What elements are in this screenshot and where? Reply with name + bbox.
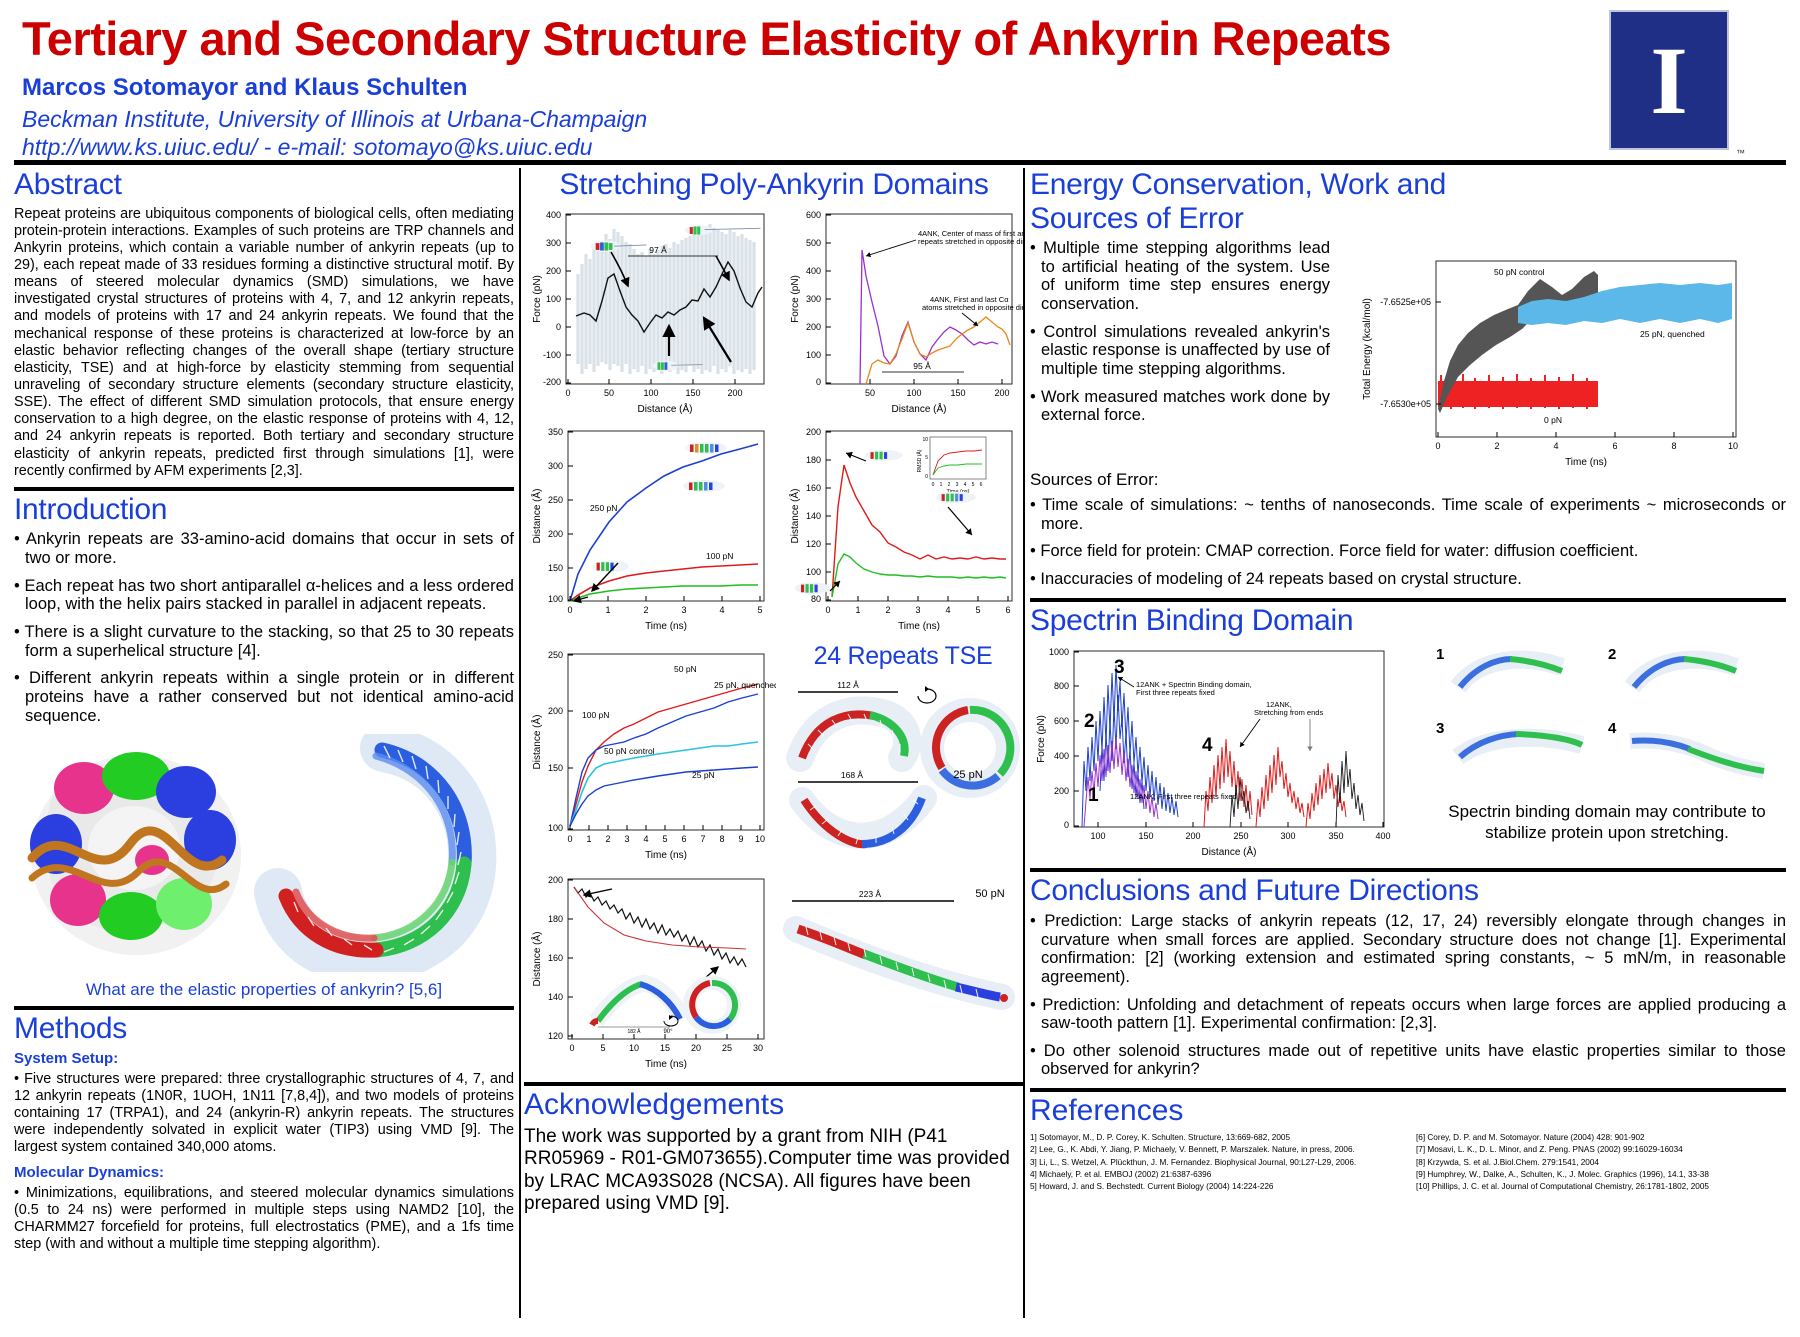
tse-label-223: 223 Å <box>859 889 882 899</box>
section-divider <box>14 487 514 491</box>
svg-text:3: 3 <box>624 834 629 844</box>
reference-item: 5] Howard, J. and S. Bechstedt. Current … <box>1030 1181 1400 1193</box>
acknowledgements-text: The work was supported by a grant from N… <box>524 1126 1024 1216</box>
svg-text:15: 15 <box>660 1043 670 1053</box>
svg-text:7: 7 <box>700 834 705 844</box>
svg-text:50 pN: 50 pN <box>674 664 697 674</box>
svg-text:300: 300 <box>548 461 563 471</box>
spectrin-structure-panels: 1 2 3 4 <box>1428 641 1786 862</box>
svg-text:9: 9 <box>738 834 743 844</box>
list-item: • There is a slight curvature to the sta… <box>14 623 514 660</box>
header-divider <box>14 160 1786 165</box>
svg-text:0: 0 <box>1435 441 1440 451</box>
svg-text:400: 400 <box>806 266 821 276</box>
axis-label-y: Force (pN) <box>532 275 543 323</box>
reference-item: [7] Mosavi, L. K., D. L. Minor, and Z. P… <box>1416 1144 1786 1156</box>
spectrin-caption: Spectrin binding domain may contribute t… <box>1428 802 1786 843</box>
tse-panel: 24 Repeats TSE 112 Å <box>782 642 1024 869</box>
tse-label-168: 168 Å <box>841 770 864 780</box>
references-heading: References <box>1030 1094 1786 1128</box>
svg-text:8: 8 <box>1671 441 1676 451</box>
methods-subhead-md: Molecular Dynamics: <box>14 1164 514 1181</box>
svg-text:4: 4 <box>719 605 724 615</box>
svg-text:150: 150 <box>950 388 965 398</box>
svg-text:200: 200 <box>727 388 742 398</box>
energy-bullets: • Multiple time stepping algorithms lead… <box>1030 239 1330 425</box>
svg-text:2: 2 <box>1494 441 1499 451</box>
svg-text:100: 100 <box>1090 831 1105 841</box>
svg-text:100: 100 <box>548 823 563 833</box>
axis-label-y: Force (pN) <box>790 275 801 323</box>
svg-text:5: 5 <box>975 605 980 615</box>
tse-223-panel: 223 Å 50 pN <box>782 871 1024 1076</box>
authors-line: Marcos Sotomayor and Klaus Schulten <box>22 74 467 102</box>
panel-label-3: 3 <box>1436 720 1444 737</box>
svg-text:1: 1 <box>586 834 591 844</box>
svg-text:10: 10 <box>755 834 765 844</box>
list-item: • Work measured matches work done by ext… <box>1030 388 1330 425</box>
svg-text:0 pN: 0 pN <box>1544 415 1562 425</box>
svg-text:140: 140 <box>806 511 821 521</box>
reference-item: [10] Phillips, J. C. et al. Journal of C… <box>1416 1181 1786 1193</box>
svg-text:200: 200 <box>1185 831 1200 841</box>
list-item: • Do other solenoid structures made out … <box>1030 1042 1786 1079</box>
axis-label-x: Time (ns) <box>645 621 687 632</box>
svg-text:100: 100 <box>643 388 658 398</box>
axis-label-x: Distance (Å) <box>891 402 946 415</box>
svg-text:350: 350 <box>548 427 563 437</box>
reference-item: 1] Sotomayor, M., D. P. Corey, K. Schult… <box>1030 1132 1400 1144</box>
svg-text:50 pN control: 50 pN control <box>1494 267 1545 277</box>
spectrin-heading: Spectrin Binding Domain <box>1030 604 1786 638</box>
svg-text:120: 120 <box>806 539 821 549</box>
svg-text:1000: 1000 <box>1049 647 1069 657</box>
svg-text:100 pN: 100 pN <box>706 551 733 561</box>
figure-distance-time-30ns: 182 Å 90° <box>524 871 776 1076</box>
svg-text:repeats stretched in opposite: repeats stretched in opposite directions <box>918 237 1024 246</box>
column-divider-1 <box>519 168 521 1318</box>
logo-letter: I <box>1611 12 1727 148</box>
list-item: • Inaccuracies of modeling of 24 repeats… <box>1030 570 1786 589</box>
section-divider <box>1030 598 1786 602</box>
spectrin-label-3: 3 <box>1114 657 1125 678</box>
svg-text:20: 20 <box>691 1043 701 1053</box>
svg-text:100: 100 <box>906 388 921 398</box>
conclusions-heading: Conclusions and Future Directions <box>1030 874 1786 908</box>
superhelix-ribbon <box>278 746 472 960</box>
svg-text:250 pN: 250 pN <box>590 503 617 513</box>
introduction-bullets: • Ankyrin repeats are 33-amino-acid doma… <box>14 530 514 725</box>
svg-text:4: 4 <box>643 834 648 844</box>
ankyrin-structure-svg <box>14 734 514 972</box>
introduction-figure-caption: What are the elastic properties of ankyr… <box>14 980 514 1000</box>
tse-heading: 24 Repeats TSE <box>782 642 1024 670</box>
svg-text:600: 600 <box>1054 716 1069 726</box>
svg-text:160: 160 <box>806 483 821 493</box>
figure-4ank-force: 4ANK, Center of mass of first and last r… <box>782 206 1024 421</box>
svg-text:120: 120 <box>548 1031 563 1041</box>
svg-text:5: 5 <box>600 1043 605 1053</box>
references-list: 1] Sotomayor, M., D. P. Corey, K. Schult… <box>1030 1132 1786 1193</box>
contact-line: http://www.ks.uiuc.edu/ - e-mail: sotoma… <box>22 134 592 161</box>
column-right: Energy Conservation, Work and Sources of… <box>1030 168 1786 1194</box>
tse-force-25: 25 pN <box>953 769 982 781</box>
svg-text:4: 4 <box>945 605 950 615</box>
figure-distance-time-10ns: 100 pN 50 pN 25 pN, quenched 50 pN contr… <box>524 642 776 869</box>
svg-text:0: 0 <box>932 482 935 488</box>
figure-distance-time-5ns: 250 pN 100 pN <box>524 423 776 640</box>
column-divider-2 <box>1023 168 1025 1318</box>
svg-text:1: 1 <box>855 605 860 615</box>
svg-text:200: 200 <box>806 427 821 437</box>
axis-label-y: Distance (Å) <box>530 488 543 543</box>
svg-text:6: 6 <box>1612 441 1617 451</box>
sources-of-error-bullets: • Time scale of simulations: ~ tenths of… <box>1030 496 1786 589</box>
section-divider <box>1030 868 1786 872</box>
abstract-heading: Abstract <box>14 168 514 202</box>
methods-text-md: • Minimizations, equilibrations, and ste… <box>14 1185 514 1254</box>
axis-label-x: Time (ns) <box>898 621 940 632</box>
svg-text:150: 150 <box>1138 831 1153 841</box>
poster-header: Tertiary and Secondary Structure Elastic… <box>0 0 1800 178</box>
svg-text:100: 100 <box>806 350 821 360</box>
svg-text:300: 300 <box>546 238 561 248</box>
energy-heading: Energy Conservation, Work and Sources of… <box>1030 168 1550 235</box>
svg-text:95 Å: 95 Å <box>913 361 931 371</box>
svg-text:30: 30 <box>753 1043 763 1053</box>
svg-text:2: 2 <box>885 605 890 615</box>
svg-text:182 Å: 182 Å <box>627 1028 641 1035</box>
reference-item: 2] Lee, G., K. Abdi, Y. Jiang, P. Michae… <box>1030 1144 1400 1156</box>
svg-text:0: 0 <box>816 377 821 387</box>
svg-text:12ANK, First three repeats fix: 12ANK, First three repeats fixed <box>1130 792 1237 801</box>
axis-label-x: Distance (Å) <box>637 402 692 415</box>
svg-text:180: 180 <box>806 455 821 465</box>
svg-text:160: 160 <box>548 953 563 963</box>
svg-text:0: 0 <box>569 1043 574 1053</box>
svg-text:400: 400 <box>1375 831 1390 841</box>
axis-label-y: Total Energy (kcal/mol) <box>1362 298 1373 400</box>
list-item: • Different ankyrin repeats within a sin… <box>14 669 514 725</box>
list-item: • Multiple time stepping algorithms lead… <box>1030 239 1330 314</box>
svg-text:First three repeats fixed: First three repeats fixed <box>1136 688 1215 697</box>
svg-text:50: 50 <box>865 388 875 398</box>
svg-text:350: 350 <box>1328 831 1343 841</box>
svg-text:150: 150 <box>685 388 700 398</box>
svg-text:-7.6530e+05: -7.6530e+05 <box>1380 399 1431 409</box>
svg-text:97 Å: 97 Å <box>649 245 667 255</box>
reference-item: 4] Michaely, P. et al. EMBOJ (2002) 21:6… <box>1030 1169 1400 1181</box>
panel-label-1: 1 <box>1436 646 1444 663</box>
svg-text:0: 0 <box>925 474 928 480</box>
list-item: • Prediction: Large stacks of ankyrin re… <box>1030 912 1786 987</box>
axis-label-y: Force (pN) <box>1036 715 1047 763</box>
spectrin-label-4: 4 <box>1202 735 1213 756</box>
svg-text:10: 10 <box>1728 441 1738 451</box>
section-divider <box>1030 1088 1786 1092</box>
svg-text:RMSD (Å): RMSD (Å) <box>916 449 923 472</box>
svg-text:180: 180 <box>548 914 563 924</box>
axis-label-y: Distance (Å) <box>530 714 543 769</box>
svg-text:2: 2 <box>643 605 648 615</box>
affiliation-line: Beckman Institute, University of Illinoi… <box>22 106 647 133</box>
svg-text:200: 200 <box>548 529 563 539</box>
svg-text:4: 4 <box>1553 441 1558 451</box>
svg-text:200: 200 <box>548 875 563 885</box>
reference-item: 3] Li, L., S. Wetzel, A. Plückthun, J. M… <box>1030 1157 1400 1169</box>
svg-text:80: 80 <box>811 594 821 604</box>
column-left: Abstract Repeat proteins are ubiquitous … <box>14 168 514 1260</box>
svg-text:5: 5 <box>925 455 928 461</box>
stretching-heading: Stretching Poly-Ankyrin Domains <box>524 168 1024 202</box>
svg-text:6: 6 <box>681 834 686 844</box>
svg-text:25: 25 <box>722 1043 732 1053</box>
references-column-left: 1] Sotomayor, M., D. P. Corey, K. Schult… <box>1030 1132 1400 1193</box>
svg-text:200: 200 <box>1054 786 1069 796</box>
svg-text:3: 3 <box>915 605 920 615</box>
svg-text:25 pN, quenched: 25 pN, quenched <box>714 680 776 690</box>
svg-text:100: 100 <box>806 567 821 577</box>
references-column-right: [6] Corey, D. P. and M. Sotomayor. Natur… <box>1416 1132 1786 1193</box>
svg-text:6: 6 <box>1005 605 1010 615</box>
svg-text:1: 1 <box>605 605 610 615</box>
svg-text:250: 250 <box>1233 831 1248 841</box>
axis-label-x: Time (ns) <box>1565 457 1607 468</box>
svg-text:2: 2 <box>605 834 610 844</box>
svg-text:-7.6525e+05: -7.6525e+05 <box>1380 297 1431 307</box>
methods-subhead-setup: System Setup: <box>14 1050 514 1067</box>
svg-text:5: 5 <box>972 482 975 488</box>
acknowledgements-heading: Acknowledgements <box>524 1088 1024 1122</box>
svg-text:400: 400 <box>546 210 561 220</box>
svg-text:atoms stretched in opposite di: atoms stretched in opposite directions <box>922 303 1024 312</box>
list-item: • Time scale of simulations: ~ tenths of… <box>1030 496 1786 533</box>
svg-text:300: 300 <box>806 294 821 304</box>
svg-text:200: 200 <box>548 706 563 716</box>
spectrin-label-1: 1 <box>1088 785 1099 806</box>
list-item: • Ankyrin repeats are 33-amino-acid doma… <box>14 530 514 567</box>
section-divider <box>524 1082 1024 1086</box>
svg-text:100: 100 <box>546 294 561 304</box>
svg-text:Stretching from ends: Stretching from ends <box>1254 708 1323 717</box>
svg-text:-200: -200 <box>543 377 561 387</box>
tse-label-112: 112 Å <box>837 680 859 690</box>
svg-text:250: 250 <box>548 650 563 660</box>
list-item: • Each repeat has two short antiparallel… <box>14 577 514 614</box>
svg-text:0: 0 <box>825 605 830 615</box>
svg-text:6: 6 <box>980 482 983 488</box>
tse-force-50: 50 pN <box>975 888 1004 900</box>
svg-text:200: 200 <box>994 388 1009 398</box>
trademark-symbol: ™ <box>1736 148 1745 158</box>
svg-text:5: 5 <box>757 605 762 615</box>
column-middle: Stretching Poly-Ankyrin Domains 97 Å <box>524 168 1024 1216</box>
svg-text:2: 2 <box>948 482 951 488</box>
axis-label-y: Distance (Å) <box>530 931 543 986</box>
svg-text:5: 5 <box>662 834 667 844</box>
svg-text:0: 0 <box>565 388 570 398</box>
svg-text:3: 3 <box>681 605 686 615</box>
svg-text:4: 4 <box>964 482 967 488</box>
svg-text:25 pN: 25 pN <box>692 770 715 780</box>
svg-text:250: 250 <box>548 495 563 505</box>
svg-text:150: 150 <box>548 563 563 573</box>
axis-label-x: Time (ns) <box>645 850 687 861</box>
reference-item: [6] Corey, D. P. and M. Sotomayor. Natur… <box>1416 1132 1786 1144</box>
figure-force-distance: 97 Å <box>524 206 776 421</box>
svg-text:50 pN control: 50 pN control <box>604 746 655 756</box>
abstract-text: Repeat proteins are ubiquitous component… <box>14 206 514 480</box>
figure-spectrin-force: 1 2 3 4 12ANK + Spectrin Binding domain,… <box>1030 641 1420 862</box>
svg-text:3: 3 <box>956 482 959 488</box>
svg-text:100: 100 <box>548 594 563 604</box>
svg-text:400: 400 <box>1054 751 1069 761</box>
svg-text:150: 150 <box>548 763 563 773</box>
svg-text:200: 200 <box>806 322 821 332</box>
conclusions-bullets: • Prediction: Large stacks of ankyrin re… <box>1030 912 1786 1079</box>
figure-ankyrin-structures <box>14 734 514 972</box>
tse-structure-svg: 112 Å <box>782 674 1024 864</box>
surface-representation <box>30 752 241 955</box>
svg-text:0: 0 <box>556 322 561 332</box>
svg-text:1: 1 <box>940 482 943 488</box>
list-item: • Force field for protein: CMAP correcti… <box>1030 542 1786 561</box>
svg-text:140: 140 <box>548 992 563 1002</box>
svg-text:10: 10 <box>922 437 928 443</box>
panel-label-2: 2 <box>1608 646 1616 663</box>
methods-text-setup: • Five structures were prepared: three c… <box>14 1071 514 1157</box>
section-divider <box>14 1006 514 1010</box>
reference-item: [9] Humphrey, W., Dalke, A., Schulten, K… <box>1416 1169 1786 1181</box>
svg-text:8: 8 <box>719 834 724 844</box>
list-item: • Prediction: Unfolding and detachment o… <box>1030 996 1786 1033</box>
axis-label-y: Distance (Å) <box>788 488 801 543</box>
methods-heading: Methods <box>14 1012 514 1046</box>
svg-text:500: 500 <box>806 238 821 248</box>
svg-text:0: 0 <box>1064 820 1069 830</box>
figure-energy-conservation: 50 pN control 25 pN, quenched 0 pN -7.65… <box>1344 239 1786 474</box>
svg-text:600: 600 <box>806 210 821 220</box>
university-logo: I <box>1609 10 1729 150</box>
axis-label-x: Distance (Å) <box>1201 845 1256 857</box>
svg-text:25 pN, quenched: 25 pN, quenched <box>1640 329 1705 339</box>
spectrin-label-2: 2 <box>1084 711 1095 732</box>
svg-text:300: 300 <box>1280 831 1295 841</box>
svg-text:10: 10 <box>629 1043 639 1053</box>
svg-text:50: 50 <box>604 388 614 398</box>
axis-label-x: Time (ns) <box>645 1059 687 1070</box>
figure-distance-time-6ns: 10 5 0 RMSD (Å) 01 23 45 6 Time (ns) <box>782 423 1024 640</box>
list-item: • Control simulations revealed ankyrin's… <box>1030 323 1330 379</box>
reference-item: [8] Krzywda, S. et al. J.Biol.Chem. 279:… <box>1416 1157 1786 1169</box>
svg-text:0: 0 <box>567 834 572 844</box>
svg-text:100 pN: 100 pN <box>582 710 609 720</box>
svg-text:800: 800 <box>1054 681 1069 691</box>
svg-text:0: 0 <box>567 605 572 615</box>
svg-text:200: 200 <box>546 266 561 276</box>
page-title: Tertiary and Secondary Structure Elastic… <box>22 14 1602 63</box>
introduction-heading: Introduction <box>14 493 514 527</box>
svg-text:-100: -100 <box>543 350 561 360</box>
panel-label-4: 4 <box>1608 720 1617 737</box>
